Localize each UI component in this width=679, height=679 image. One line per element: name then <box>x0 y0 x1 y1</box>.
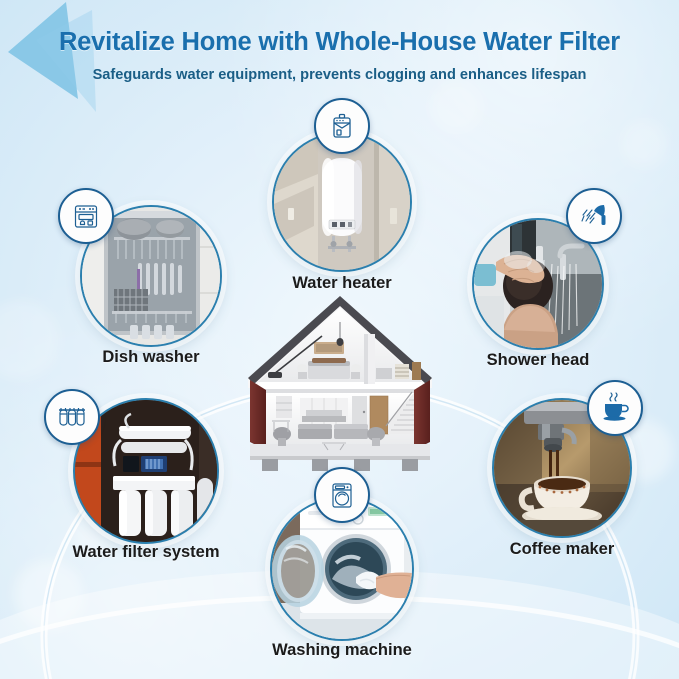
node-coffee-maker[interactable]: Coffee maker <box>492 398 632 538</box>
caption-washing-machine: Washing machine <box>272 641 412 660</box>
header: Revitalize Home with Whole-House Water F… <box>0 0 679 82</box>
filter-cartridges-icon <box>44 389 100 445</box>
caption-water-heater: Water heater <box>292 274 391 293</box>
dishwasher-icon <box>58 188 114 244</box>
coffee-cup-icon <box>587 380 643 436</box>
caption-shower-head: Shower head <box>487 351 590 370</box>
house-cutaway-illustration <box>236 292 444 478</box>
node-washing-machine[interactable]: Washing machine <box>270 497 414 641</box>
washing-machine-icon <box>314 467 370 523</box>
bokeh-blob <box>620 120 668 168</box>
caption-dish-washer: Dish washer <box>102 348 199 367</box>
page-subtitle: Safeguards water equipment, prevents clo… <box>0 56 679 83</box>
node-water-filter-system[interactable]: Water filter system <box>73 398 219 544</box>
water-heater-icon <box>314 98 370 154</box>
infographic-canvas: Revitalize Home with Whole-House Water F… <box>0 0 679 679</box>
node-dish-washer[interactable]: Dish washer <box>80 205 222 347</box>
bokeh-blob <box>430 80 484 134</box>
page-title: Revitalize Home with Whole-House Water F… <box>0 0 679 56</box>
caption-water-filter-system: Water filter system <box>72 543 219 562</box>
caption-coffee-maker: Coffee maker <box>510 540 615 559</box>
shower-head-icon <box>566 188 622 244</box>
bokeh-blob <box>0 300 60 380</box>
node-shower-head[interactable]: Shower head <box>472 218 604 350</box>
node-water-heater[interactable]: Water heater <box>272 132 412 272</box>
bokeh-blob <box>14 560 84 630</box>
